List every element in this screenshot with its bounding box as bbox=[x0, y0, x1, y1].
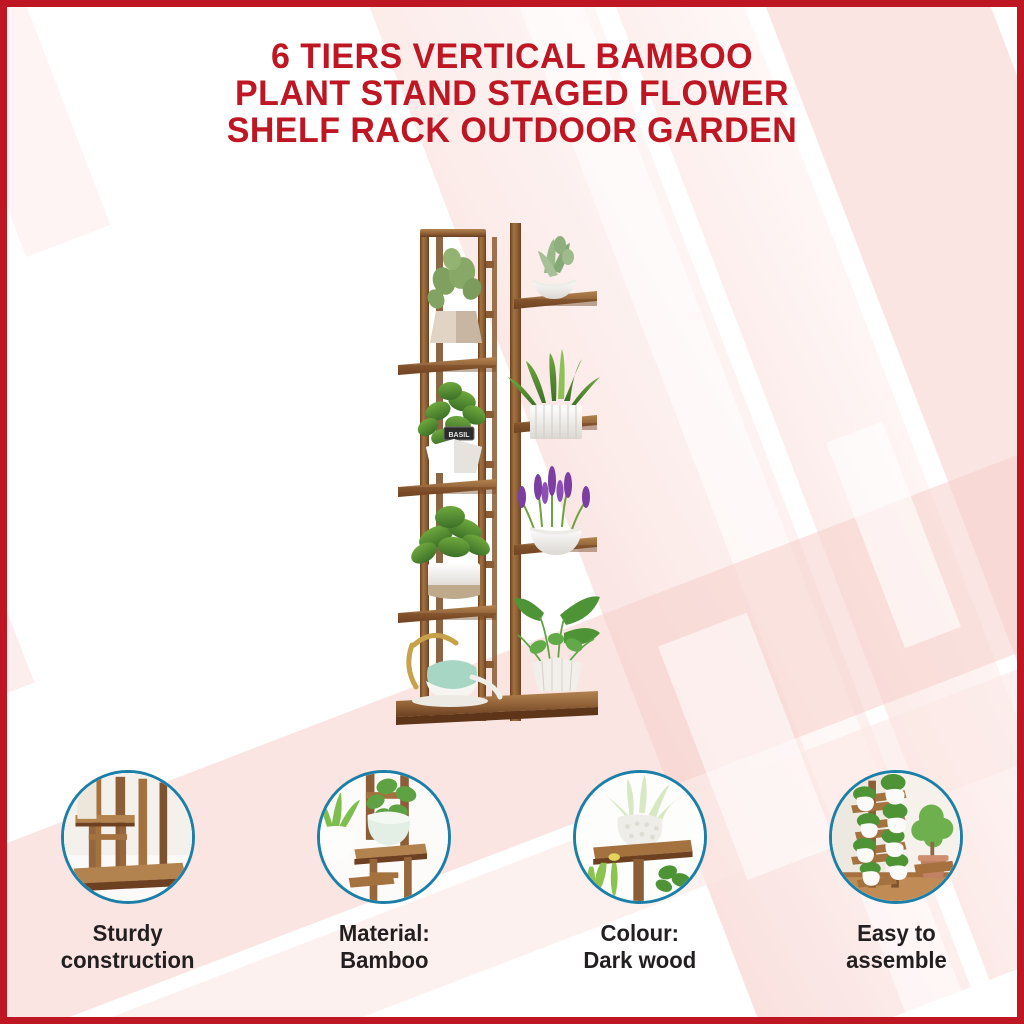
title-line-2: PLANT STAND STAGED FLOWER bbox=[15, 75, 1008, 112]
plant-monstera bbox=[514, 596, 600, 691]
stand-base-closeup-svg bbox=[64, 773, 192, 901]
dark-wood-shelf-icon bbox=[573, 770, 707, 904]
plant-cactus bbox=[424, 247, 484, 343]
title-line-1: 6 TIERS VERTICAL BAMBOO bbox=[15, 38, 1008, 75]
infographic-canvas: 6 TIERS VERTICAL BAMBOO PLANT STAND STAG… bbox=[0, 0, 1024, 1024]
svg-text:BASIL: BASIL bbox=[449, 432, 471, 439]
hero-product-image: BASIL bbox=[392, 215, 607, 735]
feature-label-easy-to-assemble: Easy to assemble bbox=[846, 920, 947, 974]
feature-colour-dark-wood: Colour: Dark wood bbox=[512, 770, 768, 990]
feature-label-line-1: Colour: bbox=[601, 920, 679, 946]
assembled-stand-room-svg bbox=[832, 773, 960, 901]
title-line-3: SHELF RACK OUTDOOR GARDEN bbox=[15, 112, 1008, 149]
feature-label-line-1: Easy to bbox=[857, 920, 936, 946]
plant-succulent-top bbox=[532, 236, 576, 299]
feature-label-line-1: Material: bbox=[339, 920, 430, 946]
feature-label-line-2: assemble bbox=[846, 947, 947, 973]
feature-label-colour-dark-wood: Colour: Dark wood bbox=[584, 920, 697, 974]
feature-label-line-1: Sturdy bbox=[93, 920, 163, 946]
feature-label-sturdy-construction: Sturdy construction bbox=[61, 920, 195, 974]
page-title: 6 TIERS VERTICAL BAMBOO PLANT STAND STAG… bbox=[0, 38, 1024, 149]
plant-tag-basil: BASIL bbox=[444, 427, 474, 440]
feature-row: Sturdy construction bbox=[0, 770, 1024, 990]
feature-easy-to-assemble: Easy to assemble bbox=[768, 770, 1024, 990]
assembled-stand-room-icon bbox=[829, 770, 963, 904]
bamboo-shelf-plant-svg bbox=[320, 773, 448, 901]
dark-wood-shelf-svg bbox=[576, 773, 704, 901]
feature-label-material-bamboo: Material: Bamboo bbox=[339, 920, 430, 974]
bamboo-shelf-plant-icon bbox=[317, 770, 451, 904]
feature-label-line-2: construction bbox=[61, 947, 195, 973]
feature-sturdy-construction: Sturdy construction bbox=[0, 770, 256, 990]
stand-base-closeup-icon bbox=[61, 770, 195, 904]
plant-stand-illustration: BASIL bbox=[392, 215, 607, 735]
feature-material-bamboo: Material: Bamboo bbox=[256, 770, 512, 990]
feature-label-line-2: Bamboo bbox=[340, 947, 428, 973]
feature-label-line-2: Dark wood bbox=[584, 947, 697, 973]
